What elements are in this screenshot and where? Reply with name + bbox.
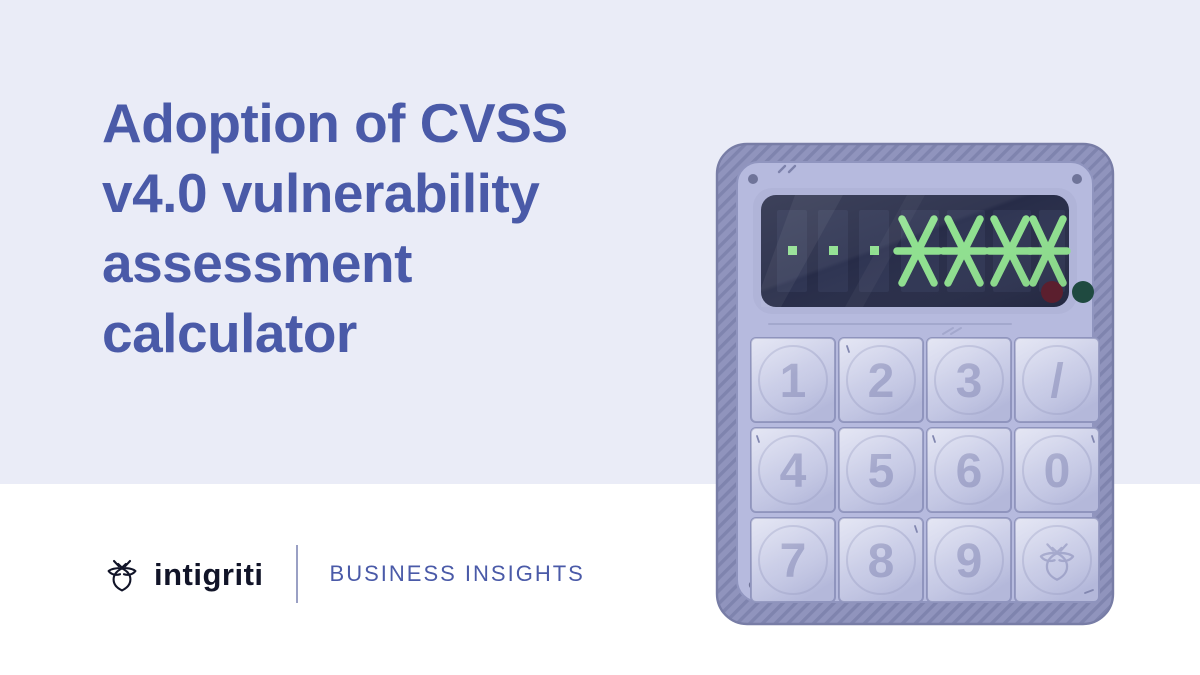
brand-divider bbox=[296, 545, 298, 603]
key-7[interactable]: 7 bbox=[751, 518, 835, 602]
key-5[interactable]: 5 bbox=[839, 428, 923, 512]
brand-footer: intigriti BUSINESS INSIGHTS bbox=[102, 545, 585, 603]
key-1[interactable]: 1 bbox=[751, 338, 835, 422]
slide-canvas: Adoption of CVSS v4.0 vulnerability asse… bbox=[0, 0, 1200, 675]
series-label: BUSINESS INSIGHTS bbox=[330, 563, 585, 585]
power-led bbox=[1041, 281, 1063, 303]
calculator-illustration: 1 2 3 / bbox=[711, 138, 1119, 630]
key-9[interactable]: 9 bbox=[927, 518, 1011, 602]
key-3[interactable]: 3 bbox=[927, 338, 1011, 422]
brand-wordmark: intigriti bbox=[154, 559, 264, 590]
key-divide[interactable]: / bbox=[1015, 338, 1099, 422]
calculator-graphic: 1 2 3 / bbox=[711, 138, 1119, 630]
key-6[interactable]: 6 bbox=[927, 428, 1011, 512]
page-title: Adoption of CVSS v4.0 vulnerability asse… bbox=[102, 88, 682, 368]
status-led bbox=[1072, 281, 1094, 303]
key-intigriti[interactable] bbox=[1015, 518, 1099, 602]
key-4[interactable]: 4 bbox=[751, 428, 835, 512]
key-2[interactable]: 2 bbox=[839, 338, 923, 422]
calculator-display bbox=[753, 188, 1077, 314]
key-0[interactable]: 0 bbox=[1015, 428, 1099, 512]
key-8[interactable]: 8 bbox=[839, 518, 923, 602]
bee-icon bbox=[102, 554, 142, 594]
